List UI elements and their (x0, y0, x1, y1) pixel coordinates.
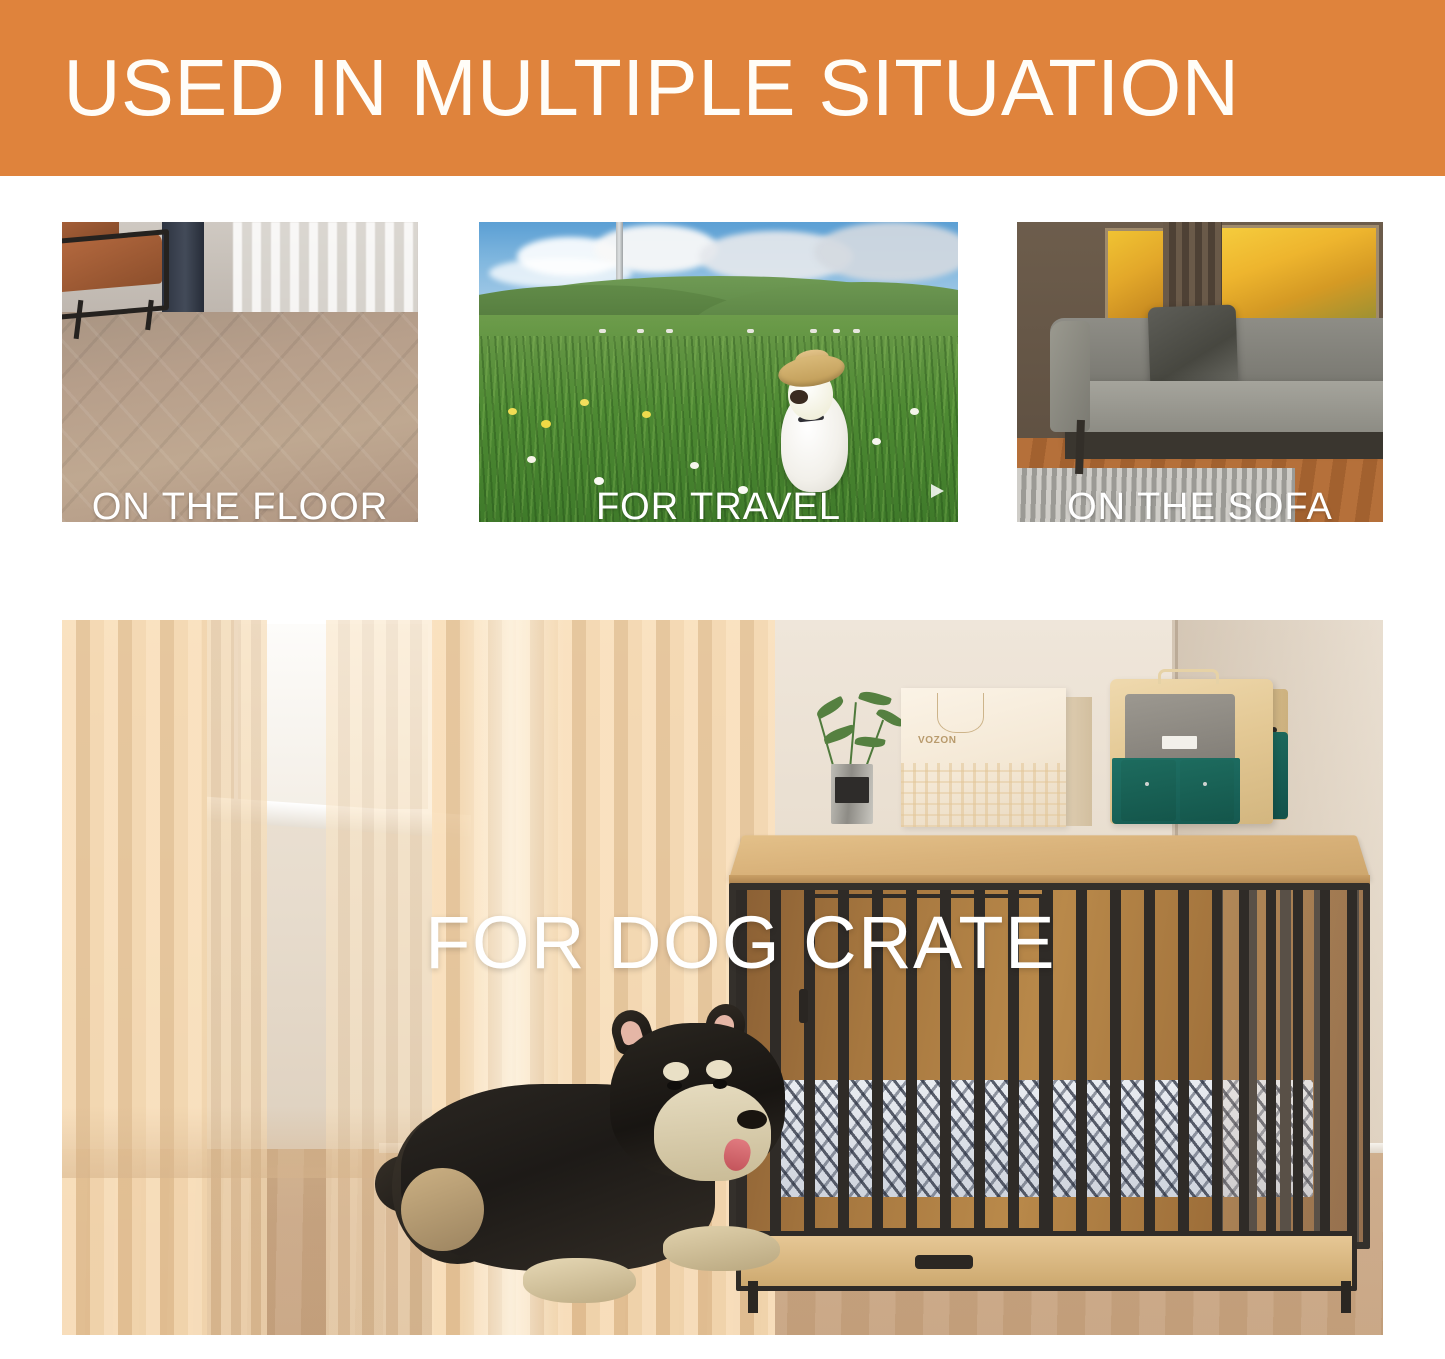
crate-feet (742, 1281, 1357, 1313)
sheep (666, 329, 673, 333)
crate-side-bars (1212, 890, 1362, 1242)
hero-label: FOR DOG CRATE (425, 906, 1056, 980)
scenario-label-floor: ON THE FLOOR (62, 488, 418, 522)
gift-bag-handle (937, 693, 985, 733)
dog-front-paw (663, 1226, 781, 1271)
flower-white (527, 456, 536, 463)
flower-yellow (642, 411, 651, 418)
crate-foot (1341, 1281, 1351, 1313)
sofa-pillow (1147, 304, 1238, 388)
flower-white (594, 477, 604, 485)
gift-bag-pattern (901, 763, 1066, 827)
crate-wood-tabletop (729, 835, 1370, 879)
sofa-armrest (1050, 321, 1090, 432)
scene-image-sofa (1017, 222, 1383, 522)
pet-carrier-brand-label (1162, 736, 1196, 750)
dog-malamute (392, 1013, 828, 1335)
pet-carrier-pocket (1121, 760, 1175, 821)
sheer-curtain (201, 620, 267, 1335)
sheep (747, 329, 754, 333)
cloud (814, 222, 958, 282)
pet-carrier-pocket (1180, 760, 1234, 821)
pet-carrier-handle (1158, 669, 1219, 685)
hero-image-dog-crate[interactable]: VOZON FOR DOG CRATE (62, 620, 1383, 1335)
dog-muzzle (790, 390, 807, 404)
dog-rump-tan-marking (401, 1168, 484, 1252)
sheep (833, 329, 840, 333)
sheep (810, 329, 817, 333)
gift-bag-brand: VOZON (918, 735, 957, 746)
dog-eye-right (713, 1079, 728, 1089)
sheer-curtain (62, 620, 207, 1335)
plant-vase-label (835, 777, 869, 803)
crate-tray-handle[interactable] (915, 1255, 973, 1270)
scenario-label-travel: FOR TRAVEL (479, 488, 958, 522)
flower-yellow (508, 408, 517, 415)
flower-yellow (580, 399, 589, 406)
scenario-card-travel[interactable]: FOR TRAVEL (479, 222, 958, 522)
scenario-card-floor[interactable]: ON THE FLOOR (62, 222, 418, 522)
scenario-thumbnail-row: ON THE FLOOR (0, 222, 1445, 522)
dog-nose (737, 1110, 768, 1129)
sofa-base (1065, 432, 1383, 459)
pet-carrier-mesh-panel (1125, 694, 1235, 760)
scenario-label-sofa: ON THE SOFA (1017, 488, 1383, 522)
dog-rear-paw (523, 1258, 636, 1303)
scene-image-travel (479, 222, 958, 522)
header-banner: USED IN MULTIPLE SITUATION (0, 0, 1445, 176)
sheep (599, 329, 606, 333)
sheep (637, 329, 644, 333)
dog-face-mask (654, 1084, 772, 1181)
sofa-leg (1075, 420, 1085, 474)
scene-image-floor (62, 222, 418, 522)
scenario-card-sofa[interactable]: ON THE SOFA (1017, 222, 1383, 522)
page-title: USED IN MULTIPLE SITUATION (0, 48, 1239, 128)
sheep (853, 329, 860, 333)
flower-white (872, 438, 881, 445)
dog-eyebrow-left (663, 1062, 689, 1081)
flower-white (690, 462, 699, 469)
